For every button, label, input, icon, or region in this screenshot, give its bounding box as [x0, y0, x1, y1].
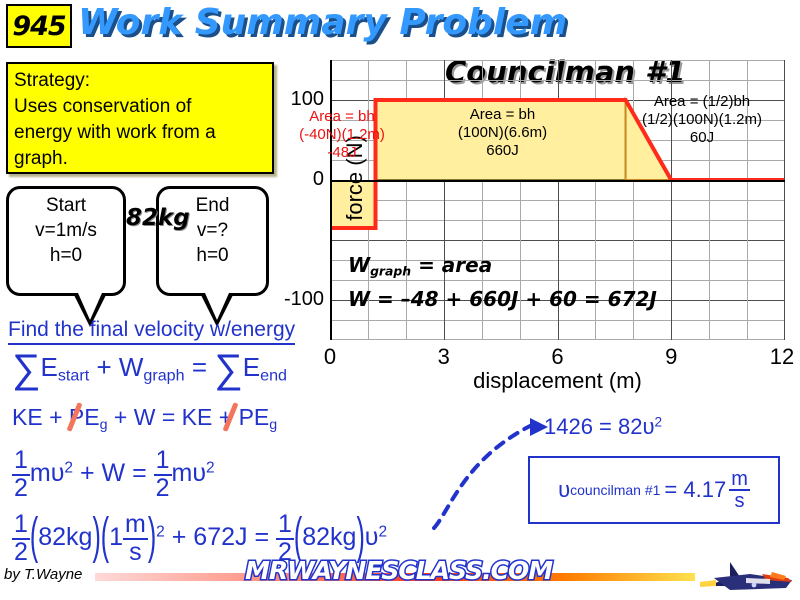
mass-label: 82kg [126, 205, 180, 231]
strategy-line-2: energy with work from a [14, 120, 266, 146]
plus-672-equals: + 672J = [172, 523, 269, 551]
triangle-area-annotation: Area = (1/2)bh (1/2)(100N)(1.2m) 60J [616, 93, 788, 147]
x-tick-6: 6 [551, 344, 563, 370]
work-eq-subscript: graph [370, 263, 411, 278]
work-graph-subscript: graph [143, 367, 184, 385]
x-tick-12: 12 [770, 344, 794, 370]
half-fraction-sub-left: 1 2 [12, 512, 30, 565]
rectangle-area-annotation: Area = bh (100N)(6.6m) 660J [420, 106, 585, 160]
x-axis [330, 180, 785, 182]
energy-start-symbol: E [41, 352, 58, 382]
sub-half-num-right: 1 [276, 512, 294, 540]
kinetic-energy-equation: 1 2 mυ2 + W = 1 2 mυ2 [12, 448, 215, 501]
start-height: h=0 [9, 243, 123, 268]
rect-annot-l2: (100N)(6.6m) [420, 124, 585, 142]
pe-right: PE [239, 404, 270, 430]
slide-canvas: 945 Work Summary Problem Strategy: Uses … [0, 0, 800, 600]
pe-left-subscript: g [100, 417, 108, 433]
start-title: Start [9, 193, 123, 218]
x-axis-label: displacement (m) [330, 368, 785, 394]
author-byline: by T.Wayne [4, 566, 82, 583]
intermediate-result-exponent: 2 [655, 415, 663, 430]
find-statement: Find the final velocity w/energy [8, 318, 295, 345]
website-label: MRWAYNESCLASS.COM [245, 556, 552, 585]
tri-annot-l3: 60J [616, 129, 788, 147]
y-tick-neg100: -100 [252, 288, 324, 311]
work-total-equation: W = –48 + 660J + 60 = 672J [348, 287, 657, 311]
strategy-line-1: Uses conservation of [14, 94, 266, 120]
intermediate-result: 1426 = 82υ2 [544, 414, 662, 440]
rect-annot-l3: 660J [420, 142, 585, 160]
answer-unit-den: s [729, 491, 750, 511]
mv-right-exponent: 2 [206, 460, 215, 477]
speed-unit-num: m [123, 512, 148, 540]
strategy-box: Strategy: Uses conservation of energy wi… [6, 62, 274, 174]
speed-value: 1 [109, 523, 123, 551]
neg-annot-l3: -48J [296, 144, 388, 162]
neg-annot-l2: (-40N)(1.2m) [296, 126, 388, 144]
jet-plane-icon [700, 556, 796, 596]
mv-right: mυ [172, 459, 207, 487]
slide-number-text: 945 [12, 11, 65, 42]
plus-work-term: + W [96, 352, 143, 382]
end-height: h=0 [159, 243, 266, 268]
mass-text-right: 82kg [302, 523, 356, 551]
sigma-left: ∑ [12, 347, 41, 391]
plus-work-equals: + W = [114, 404, 175, 430]
tri-annot-l1: Area = (1/2)bh [616, 93, 788, 111]
final-velocity-exponent: 2 [378, 524, 387, 541]
sigma-right: ∑ [214, 347, 243, 391]
half-num-right: 1 [154, 448, 172, 476]
neg-annot-l1: Area = bh [296, 108, 388, 126]
paren-close-speed: ) [148, 509, 156, 567]
energy-end-symbol: E [243, 352, 260, 382]
answer-velocity-subscript: councilman #1 [570, 482, 660, 498]
final-answer-box: υcouncilman #1 = 4.17 m s [528, 456, 780, 524]
answer-equals-value: = 4.17 [664, 477, 726, 503]
half-fraction-right: 1 2 [154, 448, 172, 501]
energy-end-subscript: end [260, 367, 287, 385]
mv-left-exponent: 2 [64, 460, 73, 477]
ke-right: KE [182, 404, 213, 430]
paren-open-mass-left: ( [30, 509, 38, 567]
rect-annot-l1: Area = bh [420, 106, 585, 124]
answer-unit-num: m [729, 469, 750, 491]
x-tick-3: 3 [438, 344, 450, 370]
start-velocity: v=1m/s [9, 218, 123, 243]
expanded-energy-equation: KE + PEg + W = KE + PEg [12, 404, 277, 433]
half-fraction-left: 1 2 [12, 448, 30, 501]
half-den-right: 2 [154, 476, 172, 502]
speed-unit-den: s [123, 540, 148, 566]
y-axis [330, 60, 332, 340]
mv-left: mυ [30, 459, 65, 487]
strategy-label: Strategy: [14, 68, 266, 94]
y-tick-0: 0 [264, 168, 324, 191]
pe-right-subscript: g [269, 417, 277, 433]
end-state-box: End v=? h=0 [156, 186, 269, 296]
force-displacement-graph: 100 0 -100 force (N) 0 3 6 9 12 displace… [330, 60, 785, 340]
answer-velocity-symbol: υ [558, 477, 570, 503]
x-tick-0: 0 [324, 344, 336, 370]
mass-text-left: 82kg [38, 523, 92, 551]
work-eq-symbol: W [348, 253, 370, 277]
half-den-left: 2 [12, 476, 30, 502]
paren-close-mass-left: ) [92, 509, 100, 567]
x-tick-9: 9 [665, 344, 677, 370]
tri-annot-l2: (1/2)(100N)(1.2m) [616, 111, 788, 129]
slide-number-badge: 945 [6, 4, 72, 48]
energy-start-subscript: start [58, 367, 89, 385]
strategy-line-3: graph. [14, 146, 266, 172]
work-eq-rest: = area [418, 253, 492, 277]
ke-left: KE [12, 404, 43, 430]
equals-sign-1: = [192, 352, 207, 382]
negative-area-annotation: Area = bh (-40N)(1.2m) -48J [296, 108, 388, 162]
paren-open-speed: ( [101, 509, 109, 567]
speed-exponent: 2 [156, 524, 165, 541]
intermediate-result-text: 1426 = 82υ [544, 414, 655, 439]
start-state-box: Start v=1m/s h=0 [6, 186, 126, 296]
page-title: Work Summary Problem [78, 2, 567, 43]
energy-conservation-equation: ∑Estart + Wgraph = ∑Eend [12, 352, 287, 386]
half-num-left: 1 [12, 448, 30, 476]
sub-half-num-left: 1 [12, 512, 30, 540]
plus-w-equals: + W = [80, 459, 147, 487]
sub-half-den-left: 2 [12, 540, 30, 566]
speed-unit-fraction: m s [123, 512, 148, 565]
work-graph-equation: Wgraph = area [348, 253, 492, 278]
final-velocity-symbol: υ [365, 523, 379, 551]
plus-1: + [49, 404, 62, 430]
answer-unit-fraction: m s [729, 469, 750, 512]
